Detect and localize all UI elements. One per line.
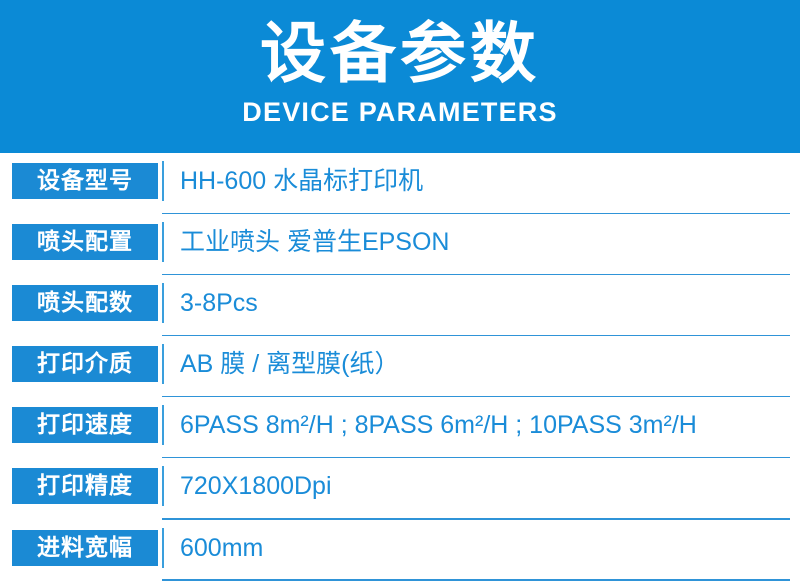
page-subtitle: DEVICE PARAMETERS bbox=[242, 96, 557, 128]
row-vertical-divider bbox=[162, 405, 164, 445]
table-row: 打印精度 720X1800Dpi bbox=[0, 458, 800, 519]
spec-value-print-resolution: 720X1800Dpi bbox=[180, 468, 790, 504]
row-vertical-divider bbox=[162, 222, 164, 262]
row-horizontal-divider bbox=[162, 579, 790, 581]
table-row: 打印速度 6PASS 8m²/H ; 8PASS 6m²/H ; 10PASS … bbox=[0, 397, 800, 458]
row-vertical-divider bbox=[162, 344, 164, 384]
table-row: 设备型号 HH-600 水晶标打印机 bbox=[0, 153, 800, 214]
spec-label-feed-width: 进料宽幅 bbox=[12, 530, 158, 566]
spec-value-print-media: AB 膜 / 离型膜(纸） bbox=[180, 346, 790, 382]
specification-table: 设备型号 HH-600 水晶标打印机 喷头配置 工业喷头 爱普生EPSON 喷头… bbox=[0, 153, 800, 581]
table-row: 进料宽幅 600mm bbox=[0, 520, 800, 581]
spec-value-device-model: HH-600 水晶标打印机 bbox=[180, 163, 790, 199]
spec-value-printhead-count: 3-8Pcs bbox=[180, 285, 790, 321]
spec-label-print-media: 打印介质 bbox=[12, 346, 158, 382]
spec-value-print-speed: 6PASS 8m²/H ; 8PASS 6m²/H ; 10PASS 3m²/H bbox=[180, 407, 790, 443]
spec-label-printhead-configuration: 喷头配置 bbox=[12, 224, 158, 260]
spec-value-feed-width: 600mm bbox=[180, 530, 790, 566]
table-row: 喷头配置 工业喷头 爱普生EPSON bbox=[0, 214, 800, 275]
row-vertical-divider bbox=[162, 161, 164, 201]
table-row: 喷头配数 3-8Pcs bbox=[0, 275, 800, 336]
spec-label-print-resolution: 打印精度 bbox=[12, 468, 158, 504]
row-vertical-divider bbox=[162, 528, 164, 568]
row-vertical-divider bbox=[162, 466, 164, 506]
table-row: 打印介质 AB 膜 / 离型膜(纸） bbox=[0, 336, 800, 397]
spec-label-device-model: 设备型号 bbox=[12, 163, 158, 199]
device-parameters-page: 设备参数 DEVICE PARAMETERS 设备型号 HH-600 水晶标打印… bbox=[0, 0, 800, 581]
spec-label-printhead-count: 喷头配数 bbox=[12, 285, 158, 321]
page-header-banner: 设备参数 DEVICE PARAMETERS bbox=[0, 0, 800, 153]
page-title: 设备参数 bbox=[260, 14, 540, 94]
spec-value-printhead-configuration: 工业喷头 爱普生EPSON bbox=[180, 224, 790, 260]
spec-label-print-speed: 打印速度 bbox=[12, 407, 158, 443]
row-vertical-divider bbox=[162, 283, 164, 323]
